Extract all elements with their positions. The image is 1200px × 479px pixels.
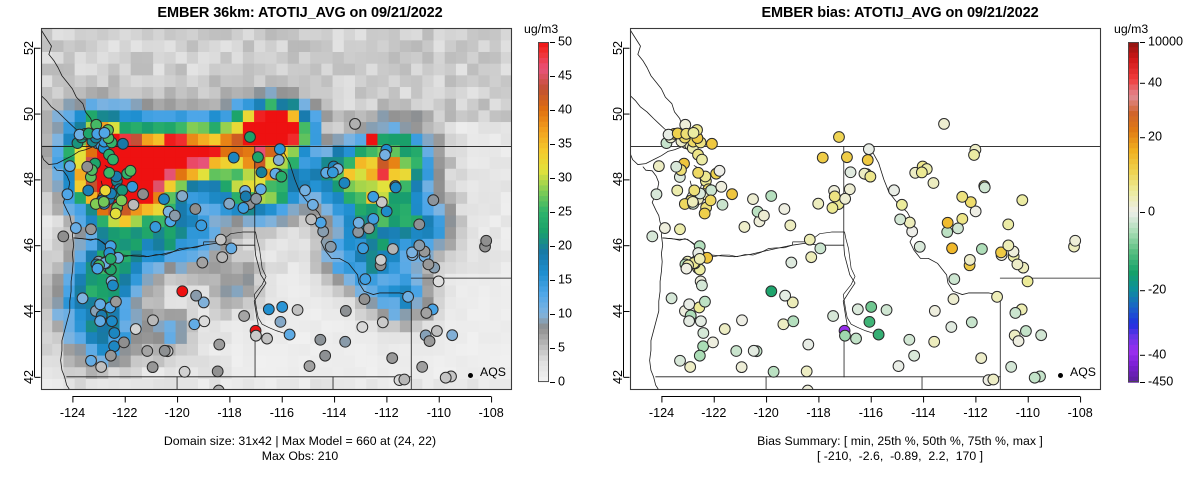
x-axis-tick-label: -118 [806, 406, 830, 420]
y-axis-tick-label: 44 [22, 304, 36, 318]
x-axis-tick-label: -122 [701, 406, 726, 420]
y-axis-tick-label: 50 [611, 107, 625, 121]
bias-axis-ticks [600, 0, 1200, 479]
y-axis-tick-label: 52 [611, 41, 625, 55]
x-axis-tick-label: -120 [165, 406, 190, 420]
y-axis-tick-label: 50 [22, 107, 36, 121]
x-axis-tick-label: -124 [60, 406, 85, 420]
x-axis-tick-label: -124 [649, 406, 674, 420]
y-axis-tick-label: 48 [22, 172, 36, 186]
x-axis-tick-label: -114 [911, 406, 935, 420]
y-axis-tick-label: 44 [611, 304, 625, 318]
panel-bias: EMBER bias: ATOTIJ_AVG on 09/21/2022 ug/… [600, 0, 1200, 479]
x-axis-tick-label: -110 [1016, 406, 1040, 420]
y-axis-tick-label: 48 [611, 172, 625, 186]
figure-root: EMBER 36km: ATOTIJ_AVG on 09/21/2022 ug/… [0, 0, 1200, 479]
x-axis-tick-label: -108 [1068, 406, 1093, 420]
y-axis-tick-label: 46 [22, 238, 36, 252]
model-axis-ticks [0, 0, 600, 479]
y-axis-tick-label: 46 [611, 238, 625, 252]
x-axis-tick-label: -108 [479, 406, 504, 420]
x-axis-tick-label: -118 [217, 406, 241, 420]
x-axis-tick-label: -122 [112, 406, 137, 420]
panel-model: EMBER 36km: ATOTIJ_AVG on 09/21/2022 ug/… [0, 0, 600, 479]
y-axis-tick-label: 42 [611, 370, 625, 384]
x-axis-tick-label: -116 [270, 406, 294, 420]
y-axis-tick-label: 52 [22, 41, 36, 55]
x-axis-tick-label: -110 [427, 406, 451, 420]
y-axis-tick-label: 42 [22, 370, 36, 384]
x-axis-tick-label: -112 [963, 406, 987, 420]
x-axis-tick-label: -112 [374, 406, 398, 420]
x-axis-tick-label: -116 [859, 406, 883, 420]
x-axis-tick-label: -120 [754, 406, 779, 420]
x-axis-tick-label: -114 [322, 406, 346, 420]
